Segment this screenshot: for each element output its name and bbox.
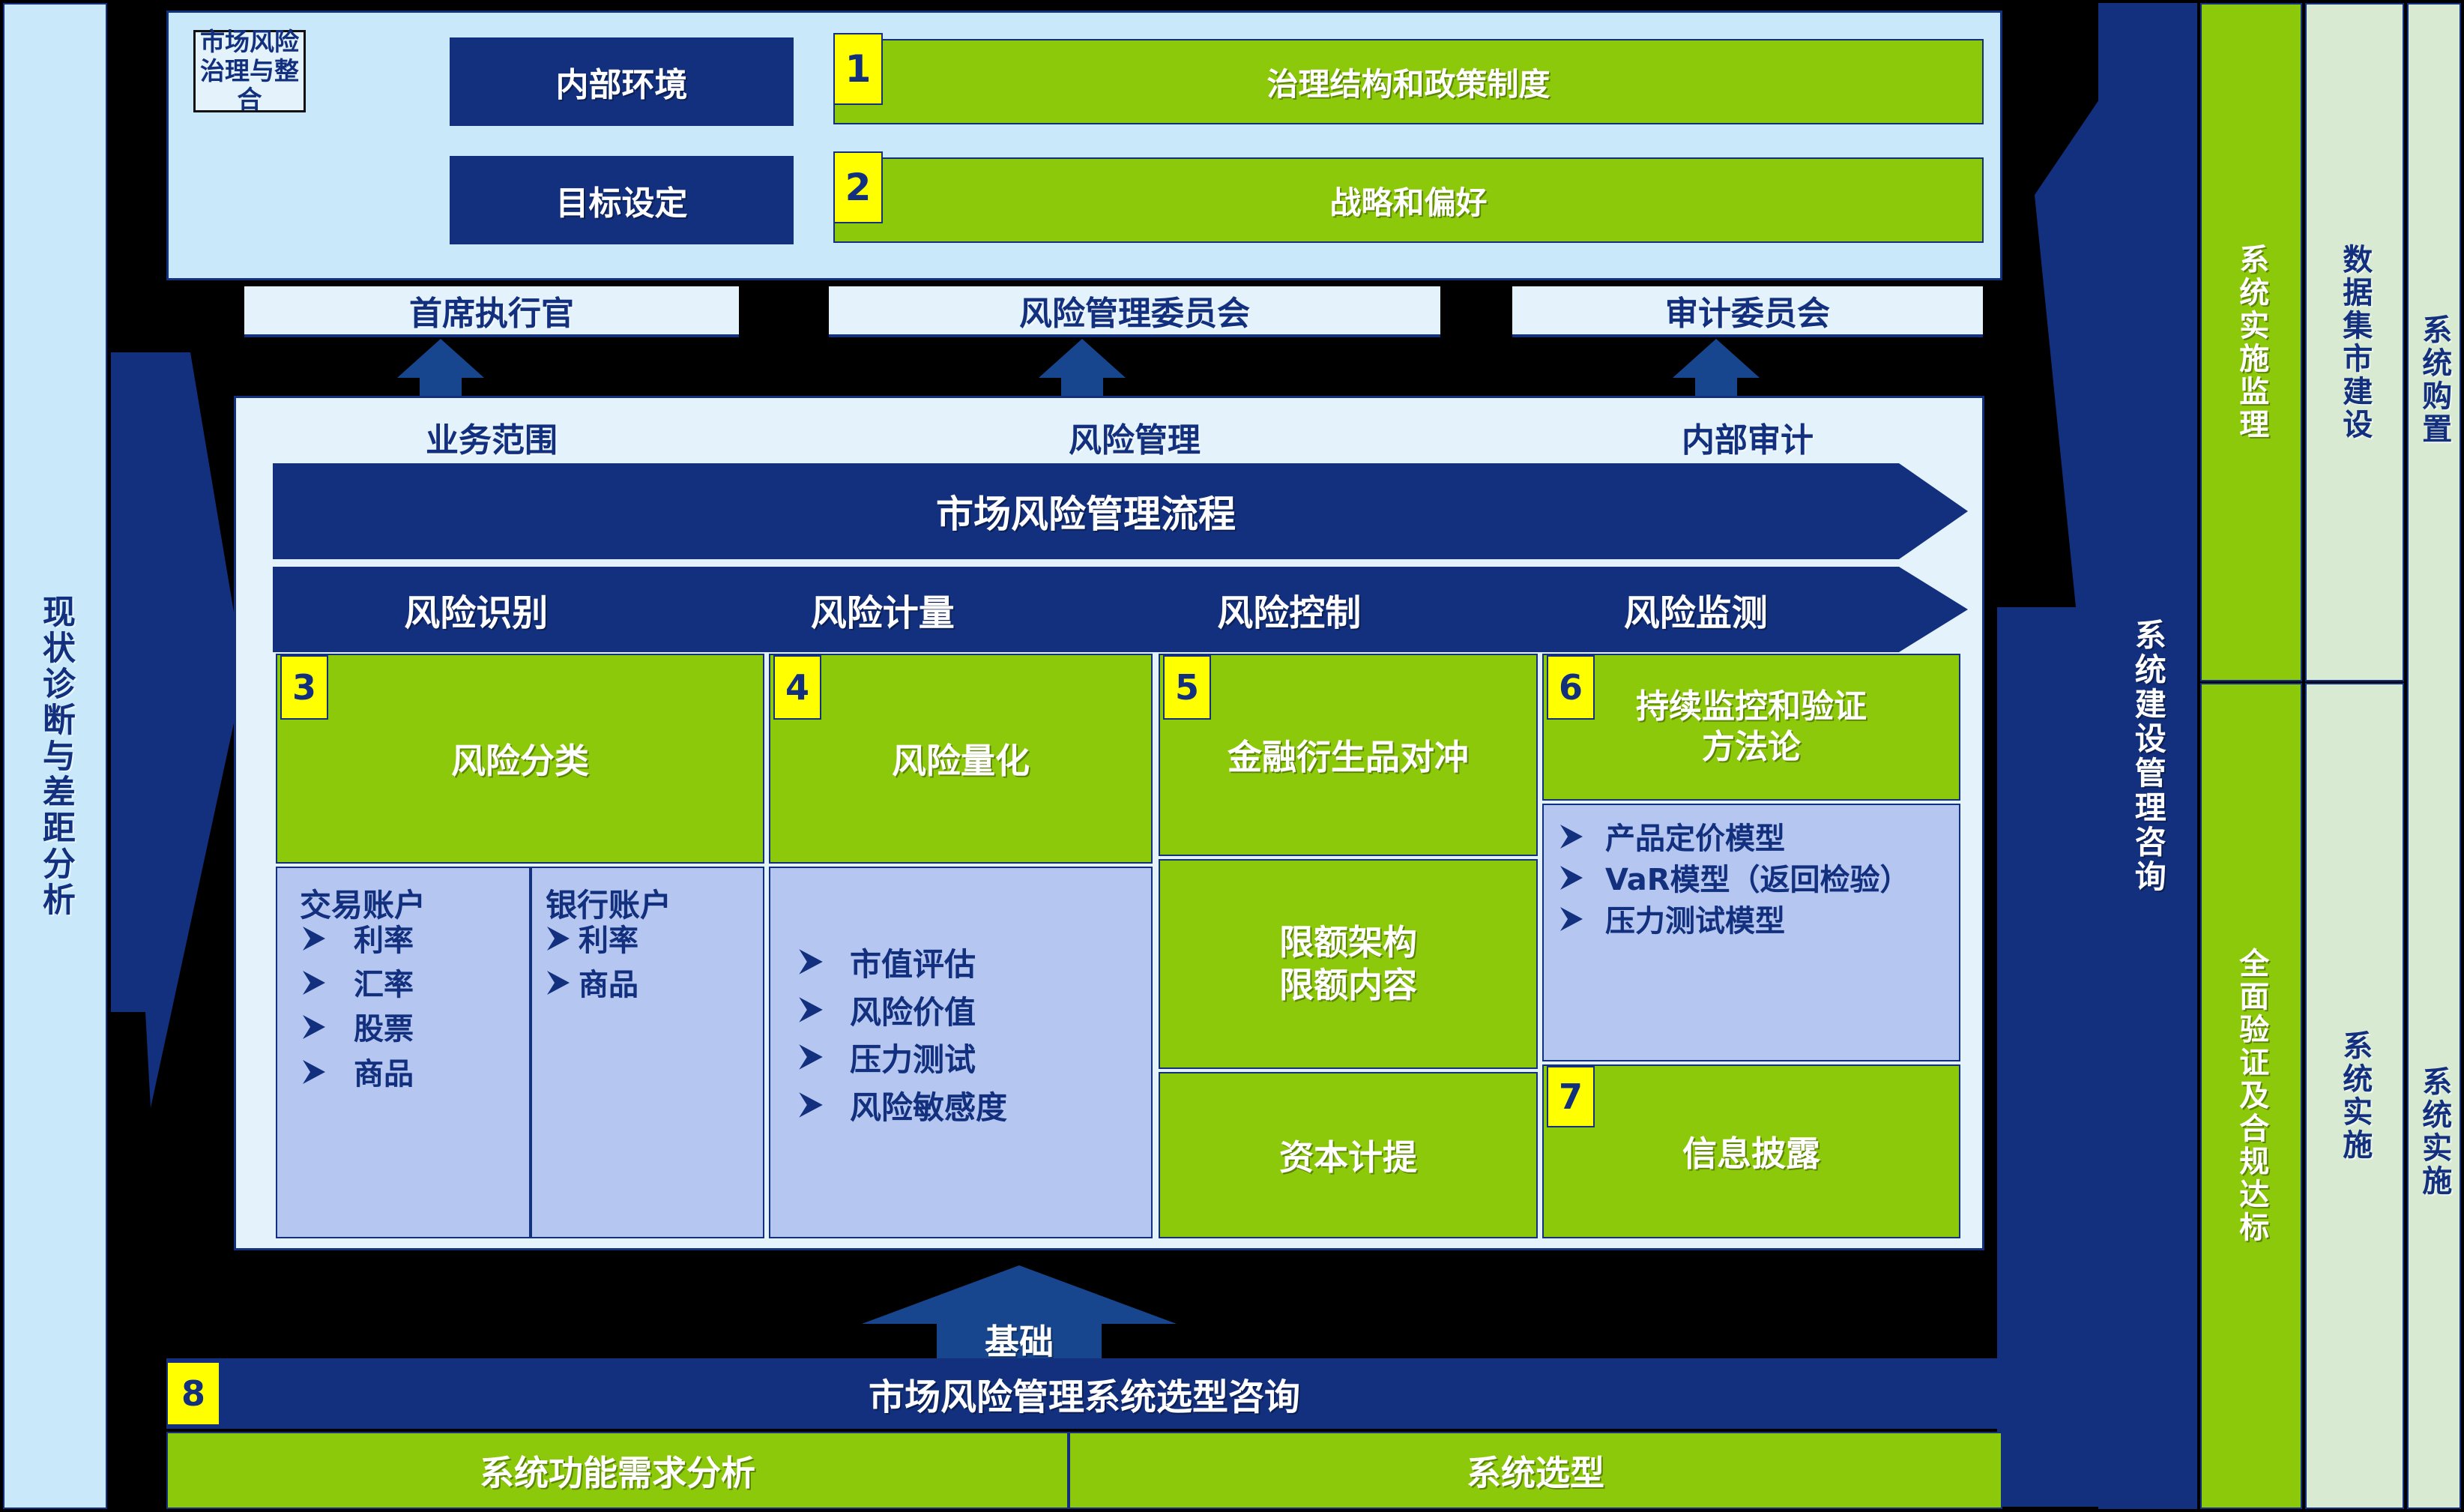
trading-book-heading: 交易账户 bbox=[300, 880, 525, 926]
role-owner-2: 审计委员会 bbox=[1512, 286, 1983, 337]
arrow-bullet-icon bbox=[796, 1089, 824, 1121]
arrow-bullet-icon bbox=[300, 1057, 327, 1087]
arrow-bullet-icon bbox=[300, 1012, 327, 1042]
role-scope-2: 内部审计 bbox=[1512, 411, 1983, 463]
list-item-label: 风险敏感度 bbox=[850, 1089, 1007, 1127]
list-item: 风险价值 bbox=[796, 994, 1148, 1031]
list-item: 汇率 bbox=[300, 968, 525, 1003]
process-step-0: 风险识别 bbox=[273, 567, 680, 652]
card-risk-monitoring-title-1: 方法论 bbox=[1702, 727, 1801, 768]
list-item-label: 商品 bbox=[579, 968, 638, 1003]
process-steps-row: 风险识别 风险计量 风险控制 风险监测 bbox=[273, 567, 1899, 652]
right-rail-mint-outer-top-label: 系统购置 bbox=[2418, 314, 2450, 446]
card-risk-monitoring-title-0: 持续监控和验证 bbox=[1636, 687, 1867, 727]
foundation-block-0: 系统功能需求分析 bbox=[166, 1432, 1069, 1509]
arrow-bullet-icon bbox=[1557, 822, 1584, 852]
right-rail-navy-label: 系统建设管理咨询 bbox=[2131, 618, 2165, 894]
list-item: VaR模型（返回检验） bbox=[1557, 863, 1954, 898]
right-rail-mint-outer-bottom: 系统实施 bbox=[2409, 756, 2460, 1508]
list-item-label: VaR模型（返回检验） bbox=[1605, 863, 1910, 898]
governance-stage-objective-setting: 目标设定 bbox=[450, 156, 794, 244]
right-rail-mint-outer-bottom-label: 系统实施 bbox=[2418, 1066, 2450, 1198]
process-banner-label: 市场风险管理流程 bbox=[273, 463, 1899, 559]
arrow-bullet-icon bbox=[300, 924, 327, 954]
arrow-bullet-icon bbox=[544, 968, 571, 998]
list-item: 产品定价模型 bbox=[1557, 822, 1954, 857]
card-risk-monitoring-header: 持续监控和验证 方法论 bbox=[1542, 654, 1960, 801]
trading-book-list: 利率 汇率 股票 商品 bbox=[300, 924, 525, 1092]
list-item-label: 商品 bbox=[354, 1057, 414, 1092]
right-rail-green-bottom: 全面验证及合规达标 bbox=[2200, 683, 2302, 1509]
left-rail-panel: 现状诊断与差距分析 bbox=[3, 3, 107, 1509]
right-rail-green-top-label: 系统实施监理 bbox=[2235, 244, 2267, 442]
list-item: 利率 bbox=[300, 924, 525, 959]
limit-framework-line-0: 限额架构 bbox=[1279, 921, 1417, 965]
limit-framework-box: 限额架构 限额内容 bbox=[1159, 859, 1538, 1069]
arrow-bullet-icon bbox=[796, 946, 824, 978]
list-item-label: 风险价值 bbox=[850, 994, 976, 1031]
governance-content-2: 战略和偏好 bbox=[833, 157, 1984, 243]
right-rail-green-top: 系统实施监理 bbox=[2200, 3, 2302, 681]
diagram-canvas: 现状诊断与差距分析 系统建设管理咨询 系统实施监理 全面验证及合规达标 数据集市… bbox=[0, 0, 2464, 1512]
card-risk-control-header: 金融衍生品对冲 bbox=[1159, 654, 1538, 856]
process-step-1: 风险计量 bbox=[680, 567, 1087, 652]
governance-badge-2: 2 bbox=[833, 151, 883, 223]
card-risk-quantification-header: 风险量化 bbox=[769, 654, 1153, 864]
card-disclosure-box: 信息披露 bbox=[1542, 1064, 1960, 1238]
list-item-label: 利率 bbox=[579, 924, 638, 959]
list-item-label: 压力测试 bbox=[850, 1041, 976, 1079]
governance-content-1: 治理结构和政策制度 bbox=[833, 39, 1984, 124]
role-owner-1: 风险管理委员会 bbox=[829, 286, 1440, 337]
governance-badge-1: 1 bbox=[833, 33, 883, 105]
limit-framework-line-1: 限额内容 bbox=[1279, 964, 1417, 1008]
list-item: 压力测试 bbox=[796, 1041, 1148, 1079]
list-item-label: 汇率 bbox=[354, 968, 414, 1003]
banking-book-list: 利率 商品 bbox=[544, 924, 761, 1003]
right-chevron-shape bbox=[1990, 97, 2102, 1507]
role-owner-0: 首席执行官 bbox=[244, 286, 739, 337]
capital-allocation-box: 资本计提 bbox=[1159, 1072, 1538, 1238]
foundation-badge: 8 bbox=[166, 1361, 220, 1426]
banking-book-heading: 银行账户 bbox=[546, 880, 763, 926]
list-item: 市值评估 bbox=[796, 946, 1148, 984]
arrow-bullet-icon bbox=[300, 968, 327, 998]
list-item: 商品 bbox=[544, 968, 761, 1003]
right-rail-mint-inner-bottom-label: 系统实施 bbox=[2339, 1030, 2370, 1162]
list-item-label: 压力测试模型 bbox=[1605, 904, 1785, 939]
risk-monitoring-models-list: 产品定价模型 VaR模型（返回检验） 压力测试模型 bbox=[1557, 822, 1954, 940]
arrow-bullet-icon bbox=[796, 994, 824, 1025]
arrow-bullet-icon bbox=[1557, 863, 1584, 893]
card-disclosure-badge: 7 bbox=[1547, 1066, 1595, 1127]
list-item: 压力测试模型 bbox=[1557, 904, 1954, 939]
arrow-bullet-icon bbox=[796, 1041, 824, 1073]
role-scope-1: 风险管理 bbox=[829, 411, 1440, 463]
governance-stage-internal-environment: 内部环境 bbox=[450, 37, 794, 126]
card-risk-classification-header: 风险分类 bbox=[276, 654, 764, 864]
process-step-2: 风险控制 bbox=[1086, 567, 1493, 652]
risk-quantification-list: 市值评估 风险价值 压力测试 风险敏感度 bbox=[796, 946, 1148, 1126]
card-risk-monitoring-badge: 6 bbox=[1547, 655, 1595, 720]
foundation-block-1: 系统选型 bbox=[1069, 1432, 2002, 1509]
list-item-label: 市值评估 bbox=[850, 946, 976, 984]
right-rail-mint-outer: 系统购置 系统实施 bbox=[2407, 3, 2461, 1509]
list-item: 商品 bbox=[300, 1057, 525, 1092]
right-rail-mint-inner-bottom: 系统实施 bbox=[2305, 683, 2404, 1509]
list-item: 利率 bbox=[544, 924, 761, 959]
arrow-bullet-icon bbox=[544, 924, 571, 954]
list-item-label: 产品定价模型 bbox=[1605, 822, 1785, 857]
left-chevron-shape bbox=[109, 352, 252, 1109]
card-risk-quantification-badge: 4 bbox=[773, 655, 821, 720]
list-item: 风险敏感度 bbox=[796, 1089, 1148, 1127]
list-item-label: 股票 bbox=[354, 1012, 414, 1047]
right-rail-mint-inner-top: 数据集市建设 bbox=[2305, 3, 2404, 681]
foundation-banner: 市场风险管理系统选型咨询 bbox=[166, 1358, 2002, 1429]
list-item-label: 利率 bbox=[354, 924, 414, 959]
right-rail-navy: 系统建设管理咨询 bbox=[2098, 3, 2197, 1509]
list-item: 股票 bbox=[300, 1012, 525, 1047]
right-rail-green-bottom-label: 全面验证及合规达标 bbox=[2235, 948, 2267, 1244]
card-risk-control-badge: 5 bbox=[1163, 655, 1211, 720]
right-rail-mint-inner-top-label: 数据集市建设 bbox=[2339, 244, 2370, 442]
governance-corner-label: 市场风险治理与整合 bbox=[193, 30, 306, 112]
process-step-3: 风险监测 bbox=[1493, 567, 1900, 652]
arrow-bullet-icon bbox=[1557, 904, 1584, 934]
right-rail-mint-outer-top: 系统购置 bbox=[2409, 4, 2460, 756]
left-rail-label: 现状诊断与差距分析 bbox=[37, 594, 73, 918]
card-risk-classification-badge: 3 bbox=[280, 655, 328, 720]
role-scope-0: 业务范围 bbox=[244, 411, 739, 463]
